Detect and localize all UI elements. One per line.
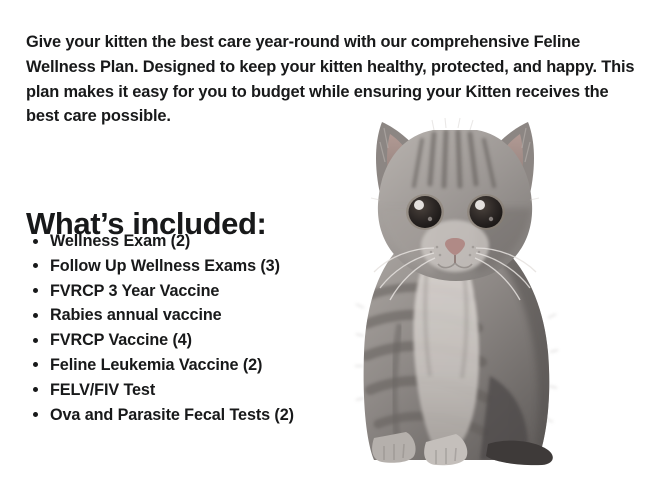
kitten-rear-paw — [486, 441, 553, 466]
list-item-label: Wellness Exam (2) — [50, 232, 190, 250]
list-item-label: Rabies annual vaccine — [50, 306, 222, 324]
list-item: Feline Leukemia Vaccine (2) — [26, 353, 326, 378]
list-item: FVRCP 3 Year Vaccine — [26, 279, 326, 304]
list-item-label: FVRCP 3 Year Vaccine — [50, 282, 219, 300]
kitten-illustration — [330, 108, 570, 470]
bullet-icon — [33, 288, 38, 293]
bullet-icon — [33, 338, 38, 343]
list-item: Ova and Parasite Fecal Tests (2) — [26, 403, 326, 428]
list-item-label: Feline Leukemia Vaccine (2) — [50, 356, 262, 374]
list-item: Wellness Exam (2) — [26, 229, 326, 254]
included-services-list: Wellness Exam (2) Follow Up Wellness Exa… — [26, 229, 326, 427]
bullet-icon — [33, 362, 38, 367]
list-item-label: Follow Up Wellness Exams (3) — [50, 257, 280, 275]
bullet-icon — [33, 313, 38, 318]
slide-canvas: Give your kitten the best care year-roun… — [0, 0, 645, 500]
kitten-photo — [330, 108, 570, 470]
list-item: FVRCP Vaccine (4) — [26, 328, 326, 353]
bullet-icon — [33, 387, 38, 392]
list-item-label: Ova and Parasite Fecal Tests (2) — [50, 406, 294, 424]
bullet-icon — [33, 239, 38, 244]
bullet-icon — [33, 412, 38, 417]
bullet-icon — [33, 263, 38, 268]
list-item: FELV/FIV Test — [26, 378, 326, 403]
list-item-label: FVRCP Vaccine (4) — [50, 331, 192, 349]
list-item-label: FELV/FIV Test — [50, 381, 155, 399]
list-item: Follow Up Wellness Exams (3) — [26, 254, 326, 279]
list-item: Rabies annual vaccine — [26, 303, 326, 328]
